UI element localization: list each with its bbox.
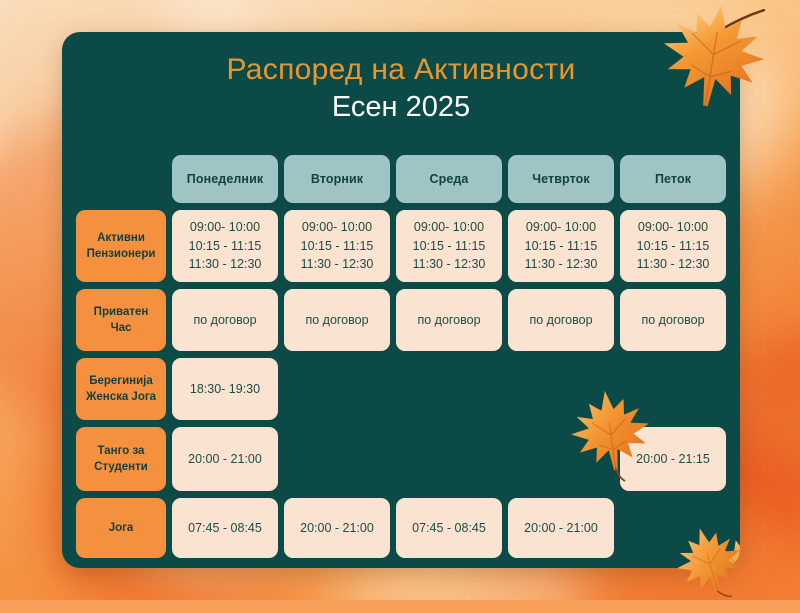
slot-r5-c3[interactable]: 07:45 - 08:45 — [396, 498, 502, 558]
slot-r1-c2[interactable]: 09:00- 10:0010:15 - 11:1511:30 - 12:30 — [284, 210, 390, 282]
slot-time-line: 10:15 - 11:15 — [413, 237, 486, 256]
slot-r2-c3[interactable]: по договор — [396, 289, 502, 351]
slot-time-line: 09:00- 10:00 — [301, 218, 374, 237]
day-header-4[interactable]: Четврток — [508, 155, 614, 203]
slot-time-line: 11:30 - 12:30 — [189, 255, 262, 274]
activity-label-line: Јога — [109, 520, 134, 536]
day-header-3[interactable]: Среда — [396, 155, 502, 203]
day-header-5[interactable]: Петок — [620, 155, 726, 203]
slot-empty-r5-c5 — [620, 498, 726, 558]
slot-time-line: 11:30 - 12:30 — [637, 255, 710, 274]
grid-corner-blank — [76, 155, 166, 203]
slot-r2-c5[interactable]: по договор — [620, 289, 726, 351]
activity-label-5[interactable]: Јога — [76, 498, 166, 558]
slot-time-line: 11:30 - 12:30 — [413, 255, 486, 274]
schedule-grid: ПонеделникВторникСредаЧетвртокПетокАктив… — [76, 155, 726, 558]
activity-label-line: Танго за — [94, 443, 148, 459]
activity-label-4[interactable]: Танго заСтуденти — [76, 427, 166, 491]
day-header-2[interactable]: Вторник — [284, 155, 390, 203]
slot-r2-c4[interactable]: по договор — [508, 289, 614, 351]
activity-label-line: Час — [94, 320, 149, 336]
slot-time-line: 10:15 - 11:15 — [525, 237, 598, 256]
slot-time-line: 09:00- 10:00 — [525, 218, 598, 237]
slot-empty-r4-c3 — [396, 427, 502, 491]
activity-label-line: Активни — [87, 230, 156, 246]
slot-r1-c5[interactable]: 09:00- 10:0010:15 - 11:1511:30 - 12:30 — [620, 210, 726, 282]
slot-time-line: 18:30- 19:30 — [190, 380, 260, 399]
slot-r5-c4[interactable]: 20:00 - 21:00 — [508, 498, 614, 558]
slot-time-line: 11:30 - 12:30 — [301, 255, 374, 274]
slot-time-line: по договор — [305, 311, 368, 330]
slot-empty-r3-c4 — [508, 358, 614, 420]
activity-label-line: Пензионери — [87, 246, 156, 262]
slot-time-line: 10:15 - 11:15 — [189, 237, 262, 256]
activity-label-line: Берегинија — [86, 373, 156, 389]
schedule-panel: Распоред на Активности Есен 2025 Понедел… — [62, 32, 740, 568]
activity-label-line: Студенти — [94, 459, 148, 475]
activity-label-2[interactable]: ПриватенЧас — [76, 289, 166, 351]
day-header-1[interactable]: Понеделник — [172, 155, 278, 203]
slot-time-line: 07:45 - 08:45 — [188, 519, 262, 538]
slot-time-line: 20:00 - 21:00 — [300, 519, 374, 538]
slot-time-line: 20:00 - 21:15 — [636, 450, 710, 469]
slot-empty-r3-c3 — [396, 358, 502, 420]
slot-time-line: по договор — [417, 311, 480, 330]
slot-time-line: 11:30 - 12:30 — [525, 255, 598, 274]
title-subtitle: Есен 2025 — [62, 89, 740, 125]
slot-time-line: 09:00- 10:00 — [413, 218, 486, 237]
slot-time-line: 20:00 - 21:00 — [524, 519, 598, 538]
slot-r1-c4[interactable]: 09:00- 10:0010:15 - 11:1511:30 - 12:30 — [508, 210, 614, 282]
slot-empty-r3-c2 — [284, 358, 390, 420]
slot-time-line: по договор — [193, 311, 256, 330]
activity-label-line: Женска Јога — [86, 389, 156, 405]
slot-empty-r3-c5 — [620, 358, 726, 420]
slot-r4-c1[interactable]: 20:00 - 21:00 — [172, 427, 278, 491]
slot-time-line: 09:00- 10:00 — [637, 218, 710, 237]
activity-label-line: Приватен — [94, 304, 149, 320]
title-main: Распоред на Активности — [62, 52, 740, 87]
slot-r3-c1[interactable]: 18:30- 19:30 — [172, 358, 278, 420]
slot-time-line: по договор — [529, 311, 592, 330]
slot-r2-c1[interactable]: по договор — [172, 289, 278, 351]
slot-empty-r4-c2 — [284, 427, 390, 491]
page-title: Распоред на Активности Есен 2025 — [62, 52, 740, 126]
slot-r2-c2[interactable]: по договор — [284, 289, 390, 351]
slot-r4-c5[interactable]: 20:00 - 21:15 — [620, 427, 726, 491]
slot-time-line: 07:45 - 08:45 — [412, 519, 486, 538]
slot-time-line: 10:15 - 11:15 — [637, 237, 710, 256]
activity-label-1[interactable]: АктивниПензионери — [76, 210, 166, 282]
slot-r1-c1[interactable]: 09:00- 10:0010:15 - 11:1511:30 - 12:30 — [172, 210, 278, 282]
slot-r5-c2[interactable]: 20:00 - 21:00 — [284, 498, 390, 558]
slot-r1-c3[interactable]: 09:00- 10:0010:15 - 11:1511:30 - 12:30 — [396, 210, 502, 282]
slot-time-line: по договор — [641, 311, 704, 330]
activity-label-3[interactable]: БерегинијаЖенска Јога — [76, 358, 166, 420]
slot-r5-c1[interactable]: 07:45 - 08:45 — [172, 498, 278, 558]
slot-time-line: 10:15 - 11:15 — [301, 237, 374, 256]
slot-time-line: 09:00- 10:00 — [189, 218, 262, 237]
slot-time-line: 20:00 - 21:00 — [188, 450, 262, 469]
slot-empty-r4-c4 — [508, 427, 614, 491]
